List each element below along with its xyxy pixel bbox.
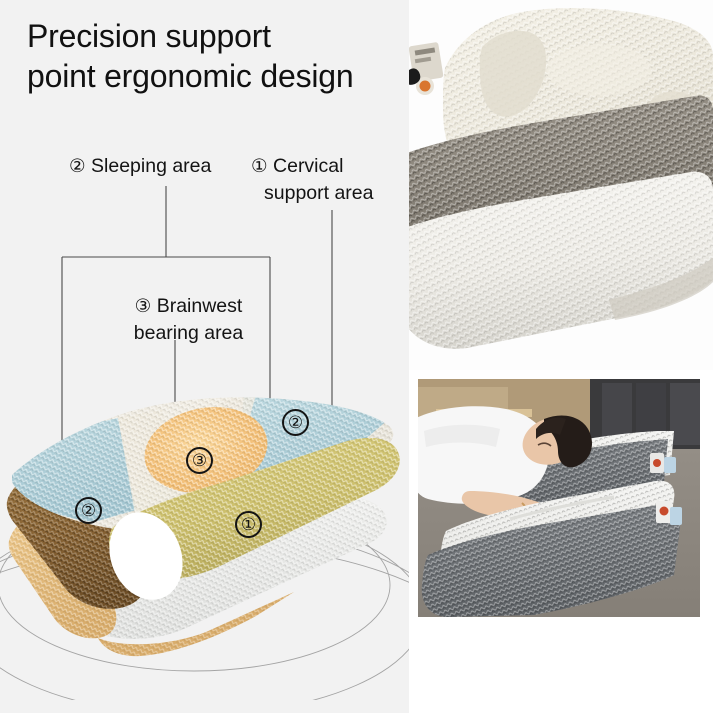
stacked-pillows-photo <box>409 0 713 370</box>
zone-marker-sleeping-left: ② <box>75 497 102 524</box>
zone-marker-sleeping-right: ② <box>282 409 309 436</box>
callout-sleeping-marker: ② <box>69 155 86 176</box>
callout-brainwest-text-line2: bearing area <box>101 320 276 347</box>
callout-cervical-support-area: ① Cervical support area <box>251 152 403 207</box>
callout-sleeping-text: Sleeping area <box>91 155 211 177</box>
callout-cervical-marker: ① <box>251 155 268 176</box>
diagram-panel: Precision support point ergonomic design… <box>0 0 409 713</box>
callout-brainwest-marker: ③ <box>135 295 152 316</box>
zone-marker-brainwest: ③ <box>186 447 213 474</box>
woman-sleeping-photo <box>418 379 700 617</box>
callout-sleeping-area: ② Sleeping area <box>69 152 211 180</box>
zone-marker-cervical: ① <box>235 511 262 538</box>
callout-cervical-text-line2: support area <box>251 180 403 207</box>
pillow-zone-illustration <box>0 370 409 700</box>
callout-brainwest-text-line1: Brainwest <box>157 295 243 317</box>
callout-brainwest-bearing-area: ③ Brainwest bearing area <box>101 292 276 347</box>
callout-cervical-text-line1: Cervical <box>273 155 343 177</box>
